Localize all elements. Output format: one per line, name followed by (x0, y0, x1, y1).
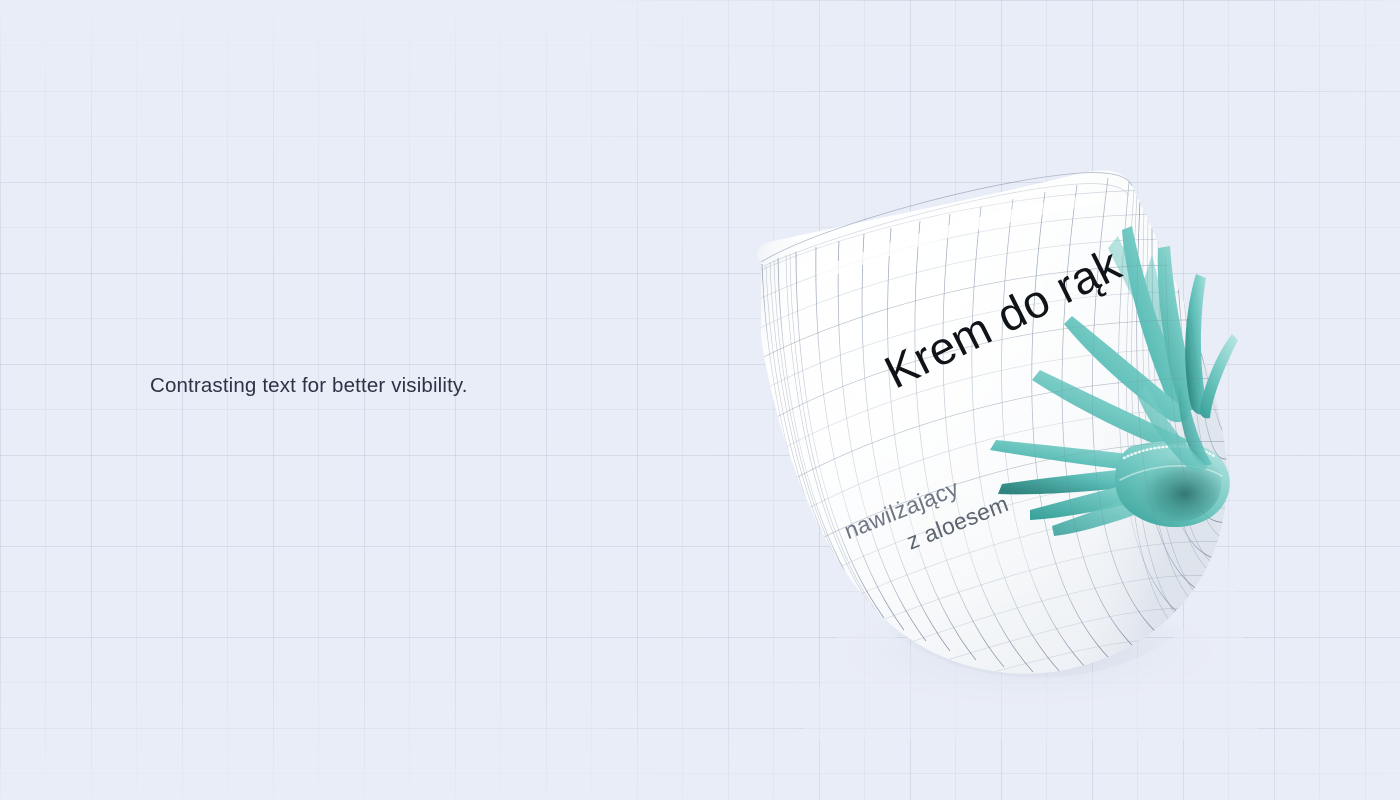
canvas-root: Contrasting text for better visibility. (0, 0, 1400, 800)
product-render (700, 40, 1320, 740)
caption-text: Contrasting text for better visibility. (150, 374, 468, 398)
